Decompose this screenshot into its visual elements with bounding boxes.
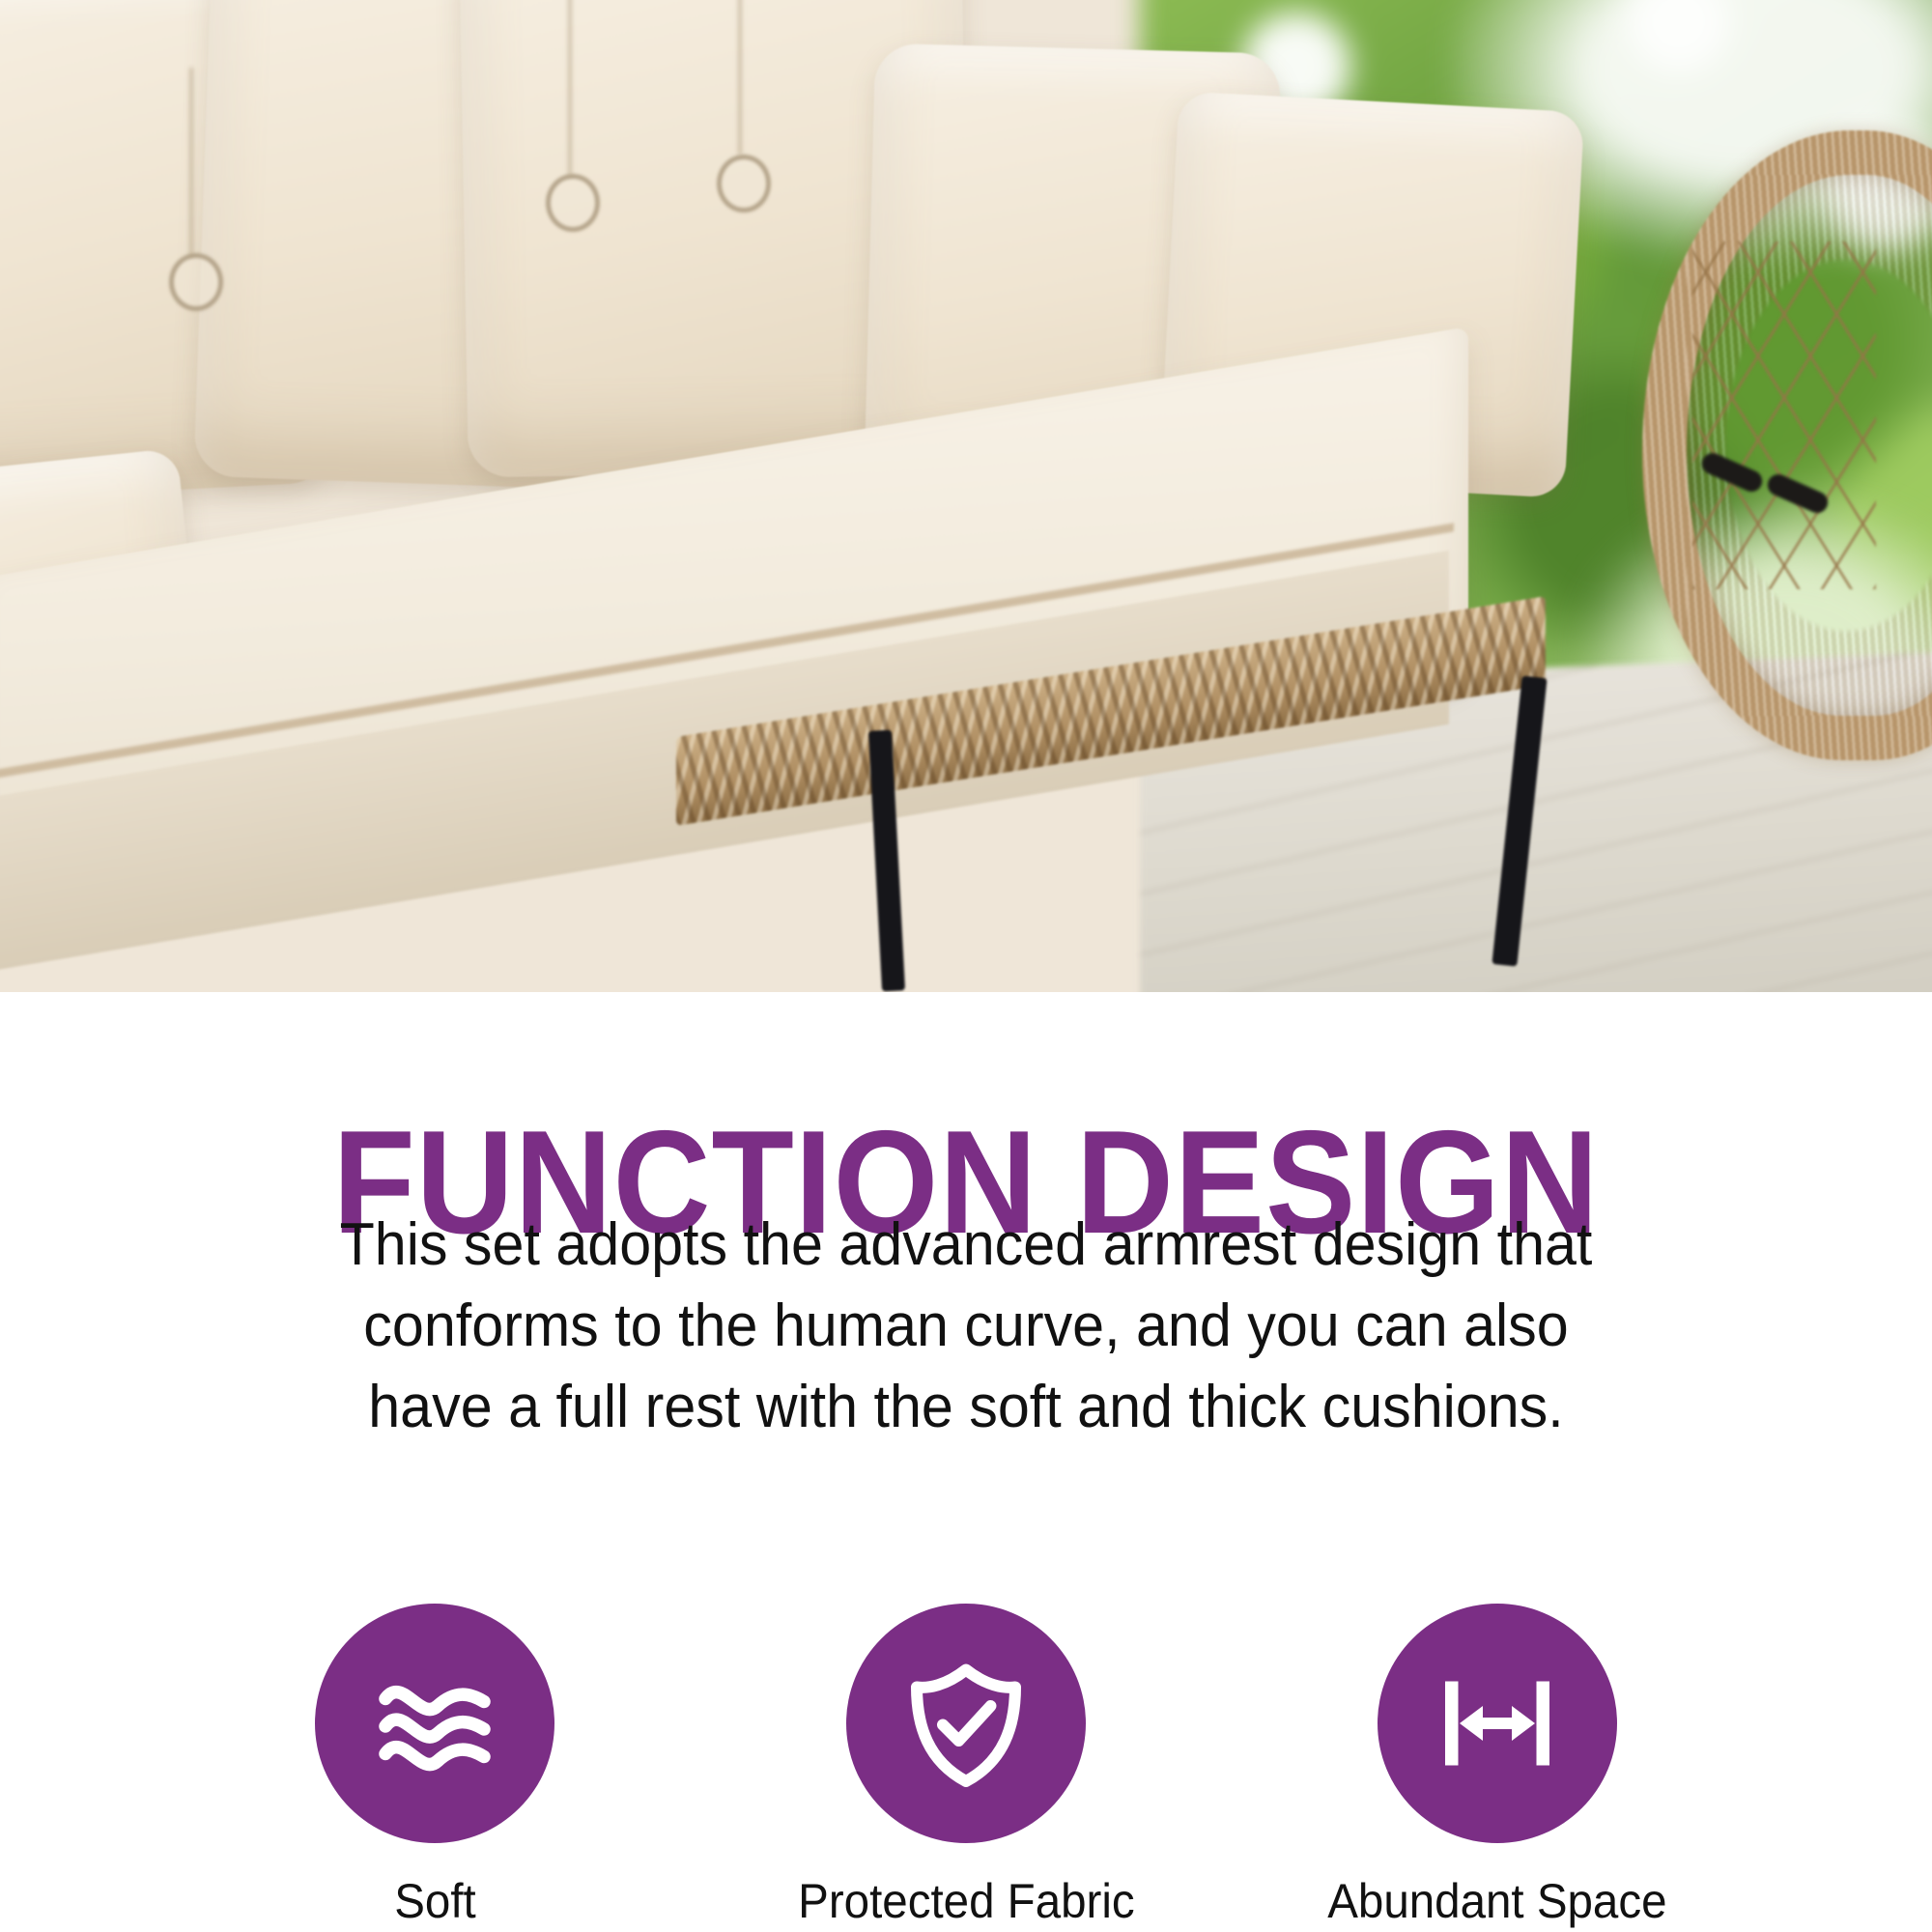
- rattan-woven-web: [1692, 241, 1876, 589]
- tufted-button: [546, 174, 600, 232]
- feature-icon-badge: [315, 1604, 554, 1843]
- shield-check-icon: [894, 1651, 1038, 1796]
- feature-icon-badge: [846, 1604, 1086, 1843]
- feature-label: Protected Fabric: [798, 1874, 1134, 1928]
- marketing-infographic: FUNCTION DESIGN This set adopts the adva…: [0, 0, 1932, 1932]
- description-line-2: conforms to the human curve, and you can…: [274, 1286, 1659, 1367]
- wave-lines-icon: [362, 1651, 507, 1796]
- pillow-seam: [738, 0, 742, 155]
- feature-label: Abundant Space: [1327, 1874, 1666, 1928]
- width-arrow-icon: [1425, 1651, 1570, 1796]
- tufted-button: [169, 253, 223, 311]
- pillow-seam: [568, 0, 572, 176]
- feature-item-protected-fabric: Protected Fabric: [845, 1604, 1087, 1928]
- description-paragraph: This set adopts the advanced armrest des…: [274, 1205, 1659, 1448]
- pillow-seam: [189, 68, 193, 256]
- feature-label: Soft: [394, 1874, 476, 1928]
- hero-product-photo: [0, 0, 1932, 992]
- description-line-1: This set adopts the advanced armrest des…: [274, 1205, 1659, 1286]
- feature-list: Soft Protected Fabric: [0, 1604, 1932, 1932]
- feature-item-soft: Soft: [314, 1604, 555, 1928]
- feature-icon-badge: [1378, 1604, 1617, 1843]
- description-line-3: have a full rest with the soft and thick…: [274, 1367, 1659, 1448]
- tufted-button: [717, 155, 771, 213]
- feature-item-abundant-space: Abundant Space: [1377, 1604, 1618, 1928]
